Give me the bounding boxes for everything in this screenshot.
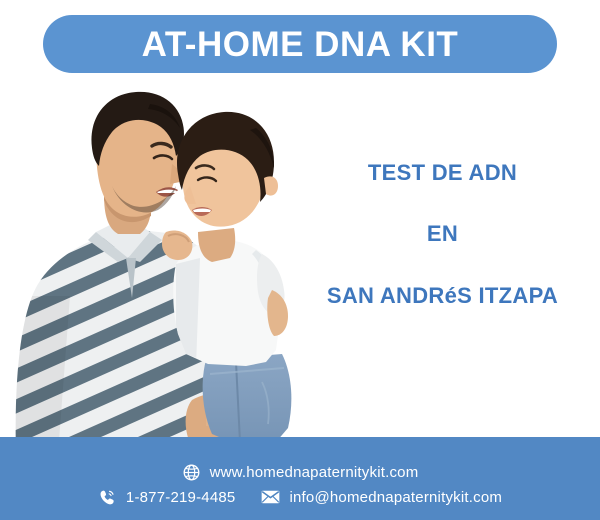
phone-icon [98, 488, 117, 507]
service-line: TEST DE ADN [300, 160, 585, 185]
globe-icon [182, 463, 201, 482]
promo-banner: AT-HOME DNA KIT [0, 0, 600, 520]
website-item[interactable]: www.homednapaternitykit.com [182, 463, 419, 482]
header-title: AT-HOME DNA KIT [142, 27, 459, 62]
text-spacer-2 [300, 247, 585, 283]
location-line: SAN ANDRéS ITZAPA [300, 283, 585, 308]
footer-step-shape [0, 437, 310, 447]
website-text: www.homednapaternitykit.com [210, 464, 419, 481]
footer-rows: www.homednapaternitykit.com 1-877-219-44… [0, 447, 600, 520]
phone-item[interactable]: 1-877-219-4485 [98, 488, 236, 507]
header-badge: AT-HOME DNA KIT [43, 15, 557, 73]
email-text: info@homednapaternitykit.com [289, 489, 502, 506]
text-spacer-1 [300, 185, 585, 221]
envelope-icon [261, 488, 280, 507]
service-text-block: TEST DE ADN EN SAN ANDRéS ITZAPA [300, 160, 585, 308]
family-photo [0, 82, 330, 462]
email-item[interactable]: info@homednapaternitykit.com [261, 488, 502, 507]
preposition-line: EN [300, 221, 585, 246]
footer-row-website: www.homednapaternitykit.com [0, 463, 600, 482]
footer-contact-bar: www.homednapaternitykit.com 1-877-219-44… [0, 437, 600, 520]
phone-text: 1-877-219-4485 [126, 489, 236, 506]
footer-row-phone-email: 1-877-219-4485 info@homednapaternitykit.… [0, 488, 600, 507]
